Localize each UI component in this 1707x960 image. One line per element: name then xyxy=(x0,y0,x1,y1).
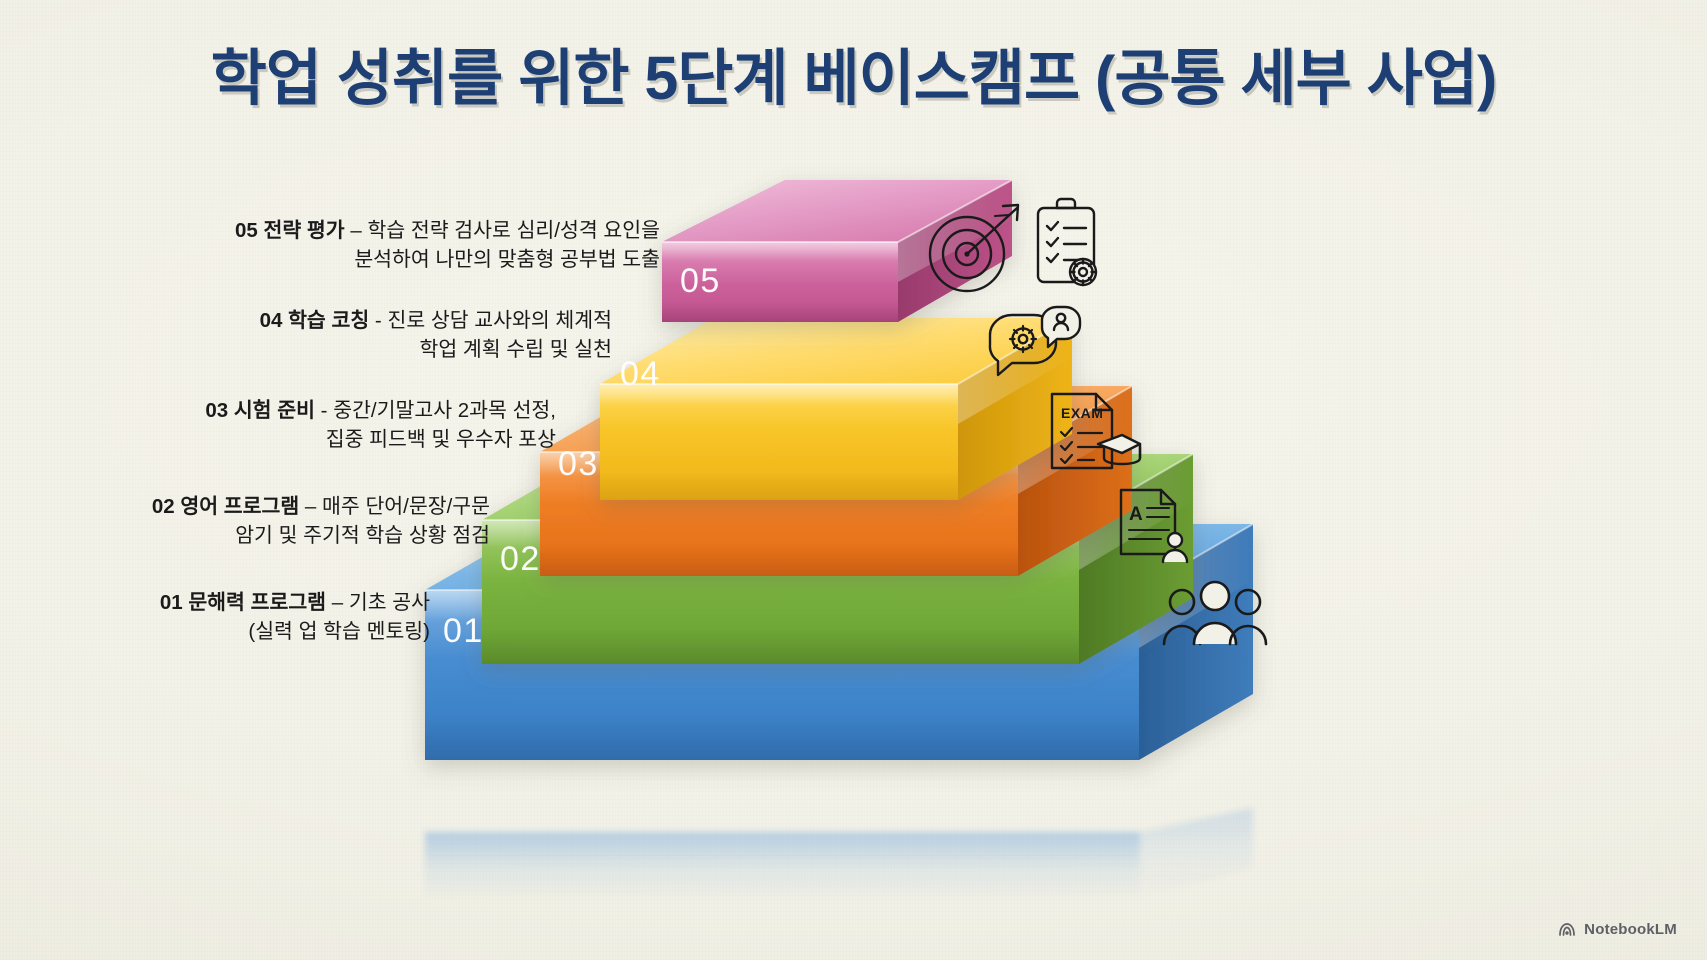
step-label-02: 02 영어 프로그램 – 매주 단어/문장/구문 암기 및 주기적 학습 상황 … xyxy=(0,492,490,550)
clipboard-checklist-gear-icon xyxy=(1038,199,1096,285)
step-body-01-line2: (실력 업 학습 멘토링) xyxy=(248,620,430,643)
step-heading-02: 02 영어 프로그램 xyxy=(152,495,299,518)
footer-brand-label: NotebookLM xyxy=(1584,921,1677,938)
step-label-03: 03 시험 준비 - 중간/기말고사 2과목 선정, 집중 피드백 및 우수자 … xyxy=(0,396,556,454)
step-number-01: 01 xyxy=(443,612,484,650)
step-number-02: 02 xyxy=(500,540,541,578)
step-label-05: 05 전략 평가 – 학습 전략 검사로 심리/성격 요인을 분석하여 나만의 … xyxy=(0,216,660,274)
svg-text:EXAM: EXAM xyxy=(1061,405,1103,421)
step-body-05-line2: 분석하여 나만의 맞춤형 공부법 도출 xyxy=(354,248,660,271)
icon-group-01 xyxy=(1160,578,1270,650)
step-body-01-line1: 기초 공사 xyxy=(349,591,430,614)
step-heading-05: 05 전략 평가 xyxy=(235,219,345,242)
chat-gear-person-icon xyxy=(982,305,1082,387)
icon-group-02: A xyxy=(1113,486,1197,564)
step-number-05: 05 xyxy=(680,262,721,300)
slide-canvas: 학업 성취를 위한 5단계 베이스캠프 (공통 세부 사업) xyxy=(0,0,1707,960)
group-people-icon xyxy=(1160,578,1270,650)
exam-paper-graduation-icon: EXAM xyxy=(1042,388,1142,474)
step-dash-02: – xyxy=(305,495,316,518)
step-dash-05: – xyxy=(350,219,361,242)
footer-branding: NotebookLM xyxy=(1557,921,1677,938)
icon-group-05 xyxy=(925,196,1115,306)
icon-group-03: EXAM xyxy=(1042,388,1142,474)
pyramid-diagram: 01 02 03 04 05 xyxy=(0,0,1707,960)
step-label-04: 04 학습 코칭 - 진로 상담 교사와의 체계적 학업 계획 수립 및 실천 xyxy=(0,306,612,364)
step-body-03-line2: 집중 피드백 및 우수자 포상 xyxy=(326,428,556,451)
step-heading-04: 04 학습 코칭 xyxy=(260,309,370,332)
step-label-01: 01 문해력 프로그램 – 기초 공사 (실력 업 학습 멘토링) xyxy=(0,588,430,646)
step-body-02-line2: 암기 및 주기적 학습 상황 점검 xyxy=(235,524,490,547)
step-number-04: 04 xyxy=(620,355,661,393)
page-title: 학업 성취를 위한 5단계 베이스캠프 (공통 세부 사업) xyxy=(0,28,1707,117)
step-heading-01: 01 문해력 프로그램 xyxy=(160,591,326,614)
step-body-04-line1: 진로 상담 교사와의 체계적 xyxy=(387,309,612,332)
step-dash-03: - xyxy=(321,399,328,422)
step-body-04-line2: 학업 계획 수립 및 실천 xyxy=(419,338,612,361)
target-icon xyxy=(930,205,1018,291)
notebooklm-logo-icon xyxy=(1557,922,1577,938)
svg-text:A: A xyxy=(1129,504,1143,525)
icon-group-04 xyxy=(982,305,1082,387)
step-dash-01: – xyxy=(332,591,343,614)
step-body-03-line1: 중간/기말고사 2과목 선정, xyxy=(333,399,556,422)
step-body-05-line1: 학습 전략 검사로 심리/성격 요인을 xyxy=(367,219,660,242)
step-dash-04: - xyxy=(375,309,382,332)
step-heading-03: 03 시험 준비 xyxy=(205,399,315,422)
step-number-03: 03 xyxy=(558,445,599,483)
step-body-02-line1: 매주 단어/문장/구문 xyxy=(322,495,490,518)
graded-paper-person-icon: A xyxy=(1113,486,1197,564)
